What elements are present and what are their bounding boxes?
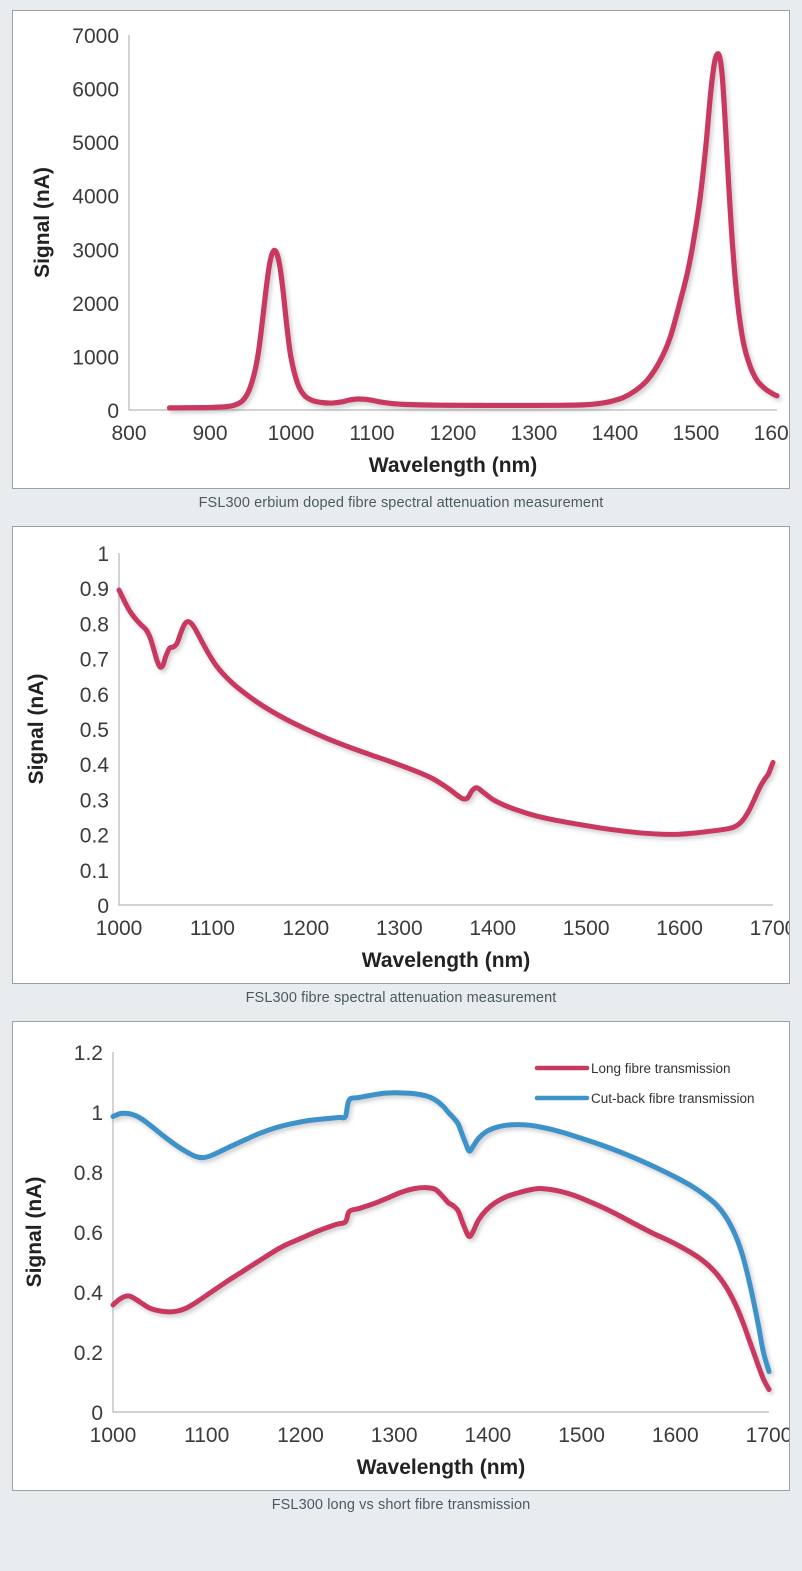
y-tick-label: 1 (97, 543, 109, 566)
y-tick-label: 0.6 (74, 1222, 103, 1245)
chart-panel-2: 00.10.20.30.40.50.60.70.80.9110001100120… (12, 526, 790, 984)
y-tick-label: 5000 (72, 132, 119, 155)
series-line (170, 54, 778, 408)
y-tick-label: 0.4 (74, 1282, 104, 1305)
y-tick-label: 0.6 (80, 684, 109, 707)
y-tick-label: 4000 (72, 186, 119, 209)
axis-lines (119, 553, 773, 905)
x-tick-label: 1500 (558, 1424, 605, 1447)
y-axis-title: Signal (nA) (25, 674, 48, 785)
legend-label: Long fibre transmission (591, 1061, 731, 1076)
y-tick-label: 3000 (72, 239, 119, 262)
y-tick-label: 0.1 (80, 860, 109, 883)
chart-svg-3: 00.20.40.60.811.210001100120013001400150… (13, 1022, 789, 1490)
figure-1-caption: FSL300 erbium doped fibre spectral atten… (12, 489, 790, 511)
x-tick-label: 1500 (563, 917, 610, 940)
x-tick-label: 1100 (349, 422, 394, 445)
chart-svg-1: 0100020003000400050006000700080090010001… (13, 11, 789, 488)
x-tick-label: 800 (111, 422, 146, 445)
y-tick-label: 0.4 (80, 754, 110, 777)
chart-panel-3: 00.20.40.60.811.210001100120013001400150… (12, 1021, 790, 1491)
y-tick-label: 0.2 (80, 825, 109, 848)
y-tick-label: 1.2 (74, 1042, 103, 1065)
x-tick-label: 1200 (430, 422, 477, 445)
y-tick-label: 2000 (72, 293, 119, 316)
x-tick-label: 1400 (469, 917, 516, 940)
x-tick-label: 1000 (268, 422, 315, 445)
x-tick-label: 1300 (511, 422, 558, 445)
series-line (113, 1093, 769, 1372)
x-tick-label: 1300 (371, 1424, 418, 1447)
y-tick-label: 0.8 (80, 613, 109, 636)
x-tick-label: 1700 (746, 1424, 789, 1447)
x-tick-label: 1600 (754, 422, 789, 445)
figure-3-caption: FSL300 long vs short fibre transmission (12, 1491, 790, 1513)
x-tick-label: 1400 (592, 422, 639, 445)
y-tick-label: 6000 (72, 79, 119, 102)
x-tick-label: 1700 (750, 917, 789, 940)
y-axis-title: Signal (nA) (23, 1177, 46, 1288)
x-tick-label: 1100 (184, 1424, 229, 1447)
y-tick-label: 0.8 (74, 1162, 103, 1185)
y-tick-label: 0 (97, 895, 109, 918)
x-tick-label: 1600 (656, 917, 703, 940)
x-tick-label: 1300 (376, 917, 423, 940)
x-tick-label: 1200 (277, 1424, 324, 1447)
figure-1: 0100020003000400050006000700080090010001… (12, 10, 790, 511)
y-tick-label: 0 (91, 1402, 103, 1425)
chart-panel-1: 0100020003000400050006000700080090010001… (12, 10, 790, 489)
x-tick-label: 1400 (464, 1424, 511, 1447)
legend-label: Cut-back fibre transmission (591, 1091, 755, 1106)
axis-lines (129, 35, 777, 410)
x-tick-label: 1200 (282, 917, 329, 940)
x-axis-title: Wavelength (nm) (369, 454, 537, 477)
y-tick-label: 0.2 (74, 1342, 103, 1365)
y-tick-label: 1000 (72, 346, 119, 369)
figure-3: 00.20.40.60.811.210001100120013001400150… (12, 1021, 790, 1513)
y-axis-title: Signal (nA) (31, 167, 54, 278)
x-tick-label: 1000 (96, 917, 143, 940)
y-tick-label: 0.5 (80, 719, 109, 742)
y-tick-label: 7000 (72, 25, 119, 48)
series-line (119, 590, 773, 834)
figure-2: 00.10.20.30.40.50.60.70.80.9110001100120… (12, 526, 790, 1006)
x-tick-label: 1600 (652, 1424, 699, 1447)
y-tick-label: 0.3 (80, 789, 109, 812)
x-axis-title: Wavelength (nm) (362, 949, 530, 972)
y-tick-label: 1 (91, 1102, 103, 1125)
x-tick-label: 1000 (90, 1424, 137, 1447)
x-axis-title: Wavelength (nm) (357, 1456, 525, 1479)
x-tick-label: 900 (192, 422, 227, 445)
figure-2-caption: FSL300 fibre spectral attenuation measur… (12, 984, 790, 1006)
x-tick-label: 1100 (190, 917, 235, 940)
x-tick-label: 1500 (673, 422, 720, 445)
y-tick-label: 0.7 (80, 649, 109, 672)
y-tick-label: 0.9 (80, 578, 109, 601)
series-line (113, 1188, 769, 1390)
figure-page: 0100020003000400050006000700080090010001… (0, 0, 802, 1571)
chart-svg-2: 00.10.20.30.40.50.60.70.80.9110001100120… (13, 527, 789, 983)
y-tick-label: 0 (107, 400, 119, 423)
